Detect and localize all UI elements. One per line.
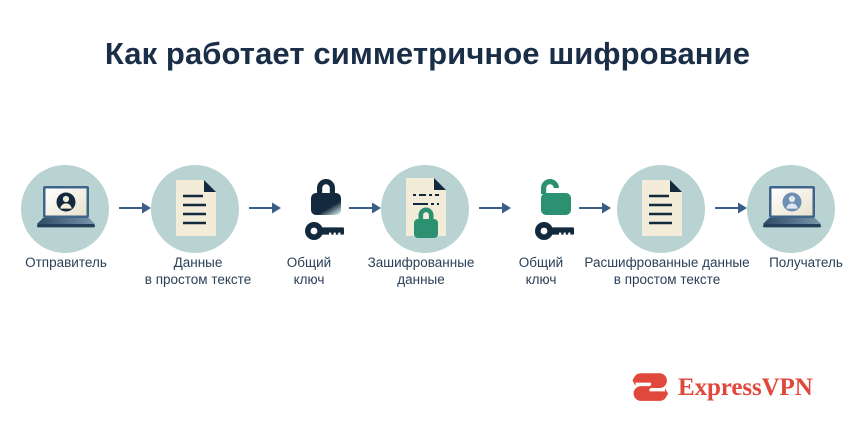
expressvpn-logo: ExpressVPN <box>632 366 792 408</box>
arrow-right-icon <box>714 198 748 218</box>
flow-step-receiver <box>744 160 840 256</box>
flow-step-shared-key-encrypt <box>278 160 374 256</box>
encryption-flow-diagram <box>0 160 855 260</box>
laptop-user-icon <box>18 160 114 256</box>
label-decrypted-data: Расшифрованные данные в простом тексте <box>576 254 758 288</box>
document-icon <box>614 160 710 256</box>
arrow-right-icon <box>248 198 282 218</box>
flow-step-shared-key-decrypt <box>508 160 604 256</box>
arrow-right-icon <box>118 198 152 218</box>
flow-step-labels: Отправитель Данные в простом тексте Общи… <box>0 254 855 300</box>
page-title: Как работает симметричное шифрование <box>0 36 855 72</box>
closed-padlock-key-icon <box>278 160 374 256</box>
infographic-canvas: Как работает симметричное шифрование <box>0 0 855 433</box>
label-shared-key-decrypt: Общий ключ <box>506 254 576 288</box>
label-plaintext-data: Данные в простом тексте <box>126 254 270 288</box>
flow-step-sender <box>18 160 114 256</box>
encrypted-document-icon <box>378 160 474 256</box>
label-receiver: Получатель <box>758 254 854 271</box>
label-sender: Отправитель <box>6 254 126 271</box>
expressvpn-logo-mark <box>632 370 669 404</box>
flow-step-plaintext-data <box>148 160 244 256</box>
label-encrypted-data: Зашифрованные данные <box>350 254 492 288</box>
open-padlock-key-icon <box>508 160 604 256</box>
flow-step-encrypted-data <box>378 160 474 256</box>
expressvpn-wordmark: ExpressVPN <box>678 375 813 400</box>
laptop-user-icon <box>744 160 840 256</box>
arrow-right-icon <box>478 198 512 218</box>
label-shared-key-encrypt: Общий ключ <box>274 254 344 288</box>
document-icon <box>148 160 244 256</box>
flow-step-decrypted-data <box>614 160 710 256</box>
